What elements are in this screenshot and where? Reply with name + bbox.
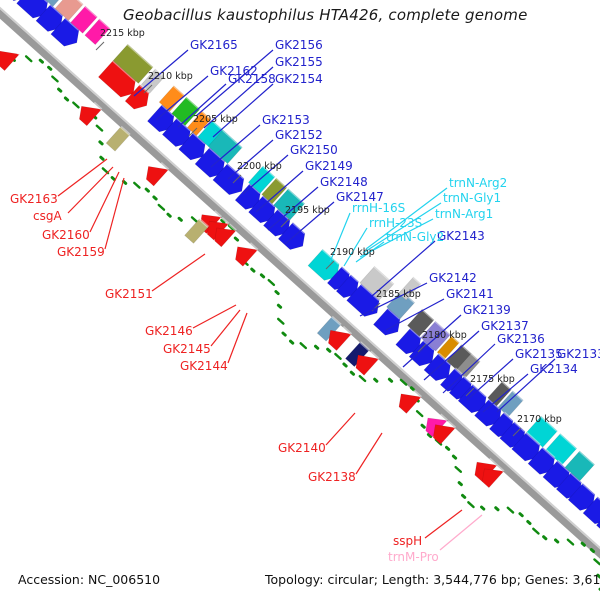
leader-line: [68, 167, 113, 213]
scale-tick-mark: [96, 42, 104, 50]
gene-label-gk2144[interactable]: GK2144: [180, 359, 228, 373]
rna-label-trnm-pro[interactable]: trnM-Pro: [388, 550, 439, 564]
gc-skew-marker: [252, 269, 254, 271]
gc-skew-marker: [134, 183, 139, 188]
gc-skew-marker: [179, 218, 181, 220]
gc-skew-marker: [112, 178, 114, 180]
rna-label-trnn-gly1[interactable]: trnN-Gly1: [443, 191, 501, 205]
gc-skew-marker: [49, 67, 51, 69]
gene-label-gk2143[interactable]: GK2143: [437, 229, 485, 243]
gc-skew-marker: [422, 425, 424, 427]
gc-skew-marker: [261, 275, 263, 277]
gc-skew-marker: [417, 411, 422, 416]
gene-label-csga[interactable]: csgA: [33, 209, 62, 223]
gene-label-gk2134[interactable]: GK2134: [530, 362, 578, 376]
accession-text: Accession: NC_006510: [18, 572, 160, 587]
genome-backbone: [0, 0, 600, 590]
gene-label-gk2158[interactable]: GK2158: [228, 72, 276, 86]
gene-label-gk2148[interactable]: GK2148: [320, 175, 368, 189]
gene-feature[interactable]: [0, 51, 19, 71]
rna-label-rrnh-16s[interactable]: rrnH-16S: [352, 201, 405, 215]
gc-skew-marker: [508, 508, 513, 513]
gc-skew-marker: [375, 379, 377, 381]
gc-skew-marker: [496, 508, 498, 510]
scale-tick-label: 2210 kbp: [148, 71, 193, 82]
rna-label-trnn-gly2[interactable]: trnN-Gly2: [386, 230, 444, 244]
leader-line: [105, 178, 124, 249]
gene-label-gk2149[interactable]: GK2149: [305, 159, 353, 173]
gene-label-gk2150[interactable]: GK2150: [290, 143, 338, 157]
leader-line: [193, 305, 236, 328]
rna-label-trnn-arg1[interactable]: trnN-Arg1: [435, 207, 493, 221]
gene-feature[interactable]: [482, 469, 503, 488]
gc-skew-marker: [65, 98, 67, 100]
gene-label-gk2151[interactable]: GK2151: [105, 287, 153, 301]
gc-skew-marker: [40, 60, 42, 62]
gc-skew-marker: [146, 189, 148, 191]
gc-skew-marker: [459, 483, 461, 485]
gc-skew-marker: [316, 346, 318, 348]
gene-feature[interactable]: [79, 106, 101, 126]
gene-label-gk2140[interactable]: GK2140: [278, 441, 326, 455]
scale-tick-label: 2175 kbp: [470, 374, 515, 385]
gc-skew-marker: [594, 559, 599, 564]
gc-skew-marker: [591, 550, 593, 552]
gc-skew-marker: [276, 292, 278, 294]
gc-skew-marker: [100, 142, 102, 144]
gene-label-gk2146[interactable]: GK2146: [145, 324, 193, 338]
leader-line: [326, 413, 355, 445]
gene-label-gk2154[interactable]: GK2154: [275, 72, 323, 86]
gene-label-gk2138[interactable]: GK2138: [308, 470, 356, 484]
gc-skew-marker: [468, 502, 473, 507]
gene-feature[interactable]: [215, 228, 236, 247]
gene-label-gk2135[interactable]: GK2135: [515, 347, 563, 361]
leader-line: [356, 433, 382, 474]
scale-tick-label: 2205 kbp: [193, 114, 238, 125]
gc-skew-marker: [568, 540, 573, 545]
leader-line: [213, 84, 273, 137]
gene-label-gk2139[interactable]: GK2139: [463, 303, 511, 317]
gene-feature[interactable]: [146, 166, 168, 186]
leader-line: [440, 515, 482, 550]
gene-label-gk2133[interactable]: GK2133: [557, 347, 600, 361]
gene-label-ssph[interactable]: sspH: [393, 534, 422, 548]
scale-tick-label: 2180 kbp: [422, 330, 467, 341]
gene-label-gk2152[interactable]: GK2152: [275, 128, 323, 142]
gc-skew-marker: [291, 341, 293, 343]
gene-feature[interactable]: [356, 355, 379, 375]
gc-skew-marker: [269, 280, 274, 285]
scale-tick-label: 2200 kbp: [237, 161, 282, 172]
gene-label-gk2155[interactable]: GK2155: [275, 55, 323, 69]
gc-skew-marker: [456, 467, 461, 472]
gc-skew-marker: [301, 343, 306, 348]
gc-skew-marker: [168, 214, 170, 216]
gc-skew-marker: [453, 456, 455, 458]
scale-tick-label: 2190 kbp: [330, 247, 375, 258]
gc-skew-marker: [389, 379, 391, 381]
gc-skew-marker: [447, 447, 449, 449]
gc-skew-marker: [97, 126, 102, 131]
gc-skew-marker: [235, 238, 237, 240]
gc-skew-marker: [124, 181, 126, 183]
leader-line: [90, 172, 119, 232]
gc-skew-marker: [556, 540, 558, 542]
gene-feature[interactable]: [328, 330, 351, 350]
gc-skew-marker: [192, 217, 197, 222]
gene-label-gk2163[interactable]: GK2163: [10, 192, 58, 206]
gc-skew-marker: [463, 495, 465, 497]
gene-label-gk2141[interactable]: GK2141: [446, 287, 494, 301]
gc-skew-marker: [520, 514, 522, 516]
gene-label-gk2165[interactable]: GK2165: [190, 38, 238, 52]
scale-tick-label: 2185 kbp: [376, 289, 421, 300]
gc-skew-marker: [351, 372, 353, 374]
gene-label-gk2137[interactable]: GK2137: [481, 319, 529, 333]
gene-label-gk2159[interactable]: GK2159: [57, 245, 105, 259]
leader-line: [152, 254, 205, 291]
gc-skew-marker: [278, 305, 280, 307]
gene-label-gk2136[interactable]: GK2136: [497, 332, 545, 346]
gc-skew-marker: [411, 388, 413, 390]
genome-diagram: [0, 0, 600, 600]
gc-skew-marker: [582, 543, 584, 545]
gene-label-gk2153[interactable]: GK2153: [262, 113, 310, 127]
page-title: Geobacillus kaustophilus HTA426, complet…: [123, 6, 528, 24]
rna-label-rrnh-23s[interactable]: rrnH-23S: [369, 216, 422, 230]
gc-skew-marker: [482, 507, 484, 509]
gene-label-gk2160[interactable]: GK2160: [42, 228, 90, 242]
scale-tick-label: 2215 kbp: [100, 28, 145, 39]
gc-skew-marker: [335, 354, 340, 359]
gc-skew-marker: [154, 197, 156, 199]
gc-skew-marker: [360, 376, 365, 381]
gc-skew-marker: [278, 319, 283, 324]
gc-skew-marker: [59, 89, 61, 91]
gc-skew-marker: [52, 77, 57, 82]
genome-summary-text: Topology: circular; Length: 3,544,776 bp…: [265, 572, 600, 587]
gc-skew-marker: [533, 529, 538, 534]
gene-label-gk2142[interactable]: GK2142: [429, 271, 477, 285]
gc-skew-marker: [101, 157, 103, 159]
gc-skew-marker: [159, 205, 164, 210]
gc-skew-marker: [283, 333, 285, 335]
scale-tick-label: 2195 kbp: [285, 205, 330, 216]
genome-map-canvas: Geobacillus kaustophilus HTA426, complet…: [0, 0, 600, 600]
leader-line: [58, 159, 107, 196]
gene-label-gk2145[interactable]: GK2145: [163, 342, 211, 356]
gene-label-gk2156[interactable]: GK2156: [275, 38, 323, 52]
gc-skew-marker: [544, 537, 546, 539]
scale-tick-label: 2170 kbp: [517, 414, 562, 425]
gc-skew-marker: [328, 349, 330, 351]
leader-line: [425, 510, 462, 538]
rna-label-trnn-arg2[interactable]: trnN-Arg2: [449, 176, 507, 190]
gc-skew-marker: [26, 56, 31, 61]
gc-skew-marker: [73, 103, 78, 108]
gc-skew-marker: [344, 364, 346, 366]
gc-skew-marker: [528, 521, 530, 523]
